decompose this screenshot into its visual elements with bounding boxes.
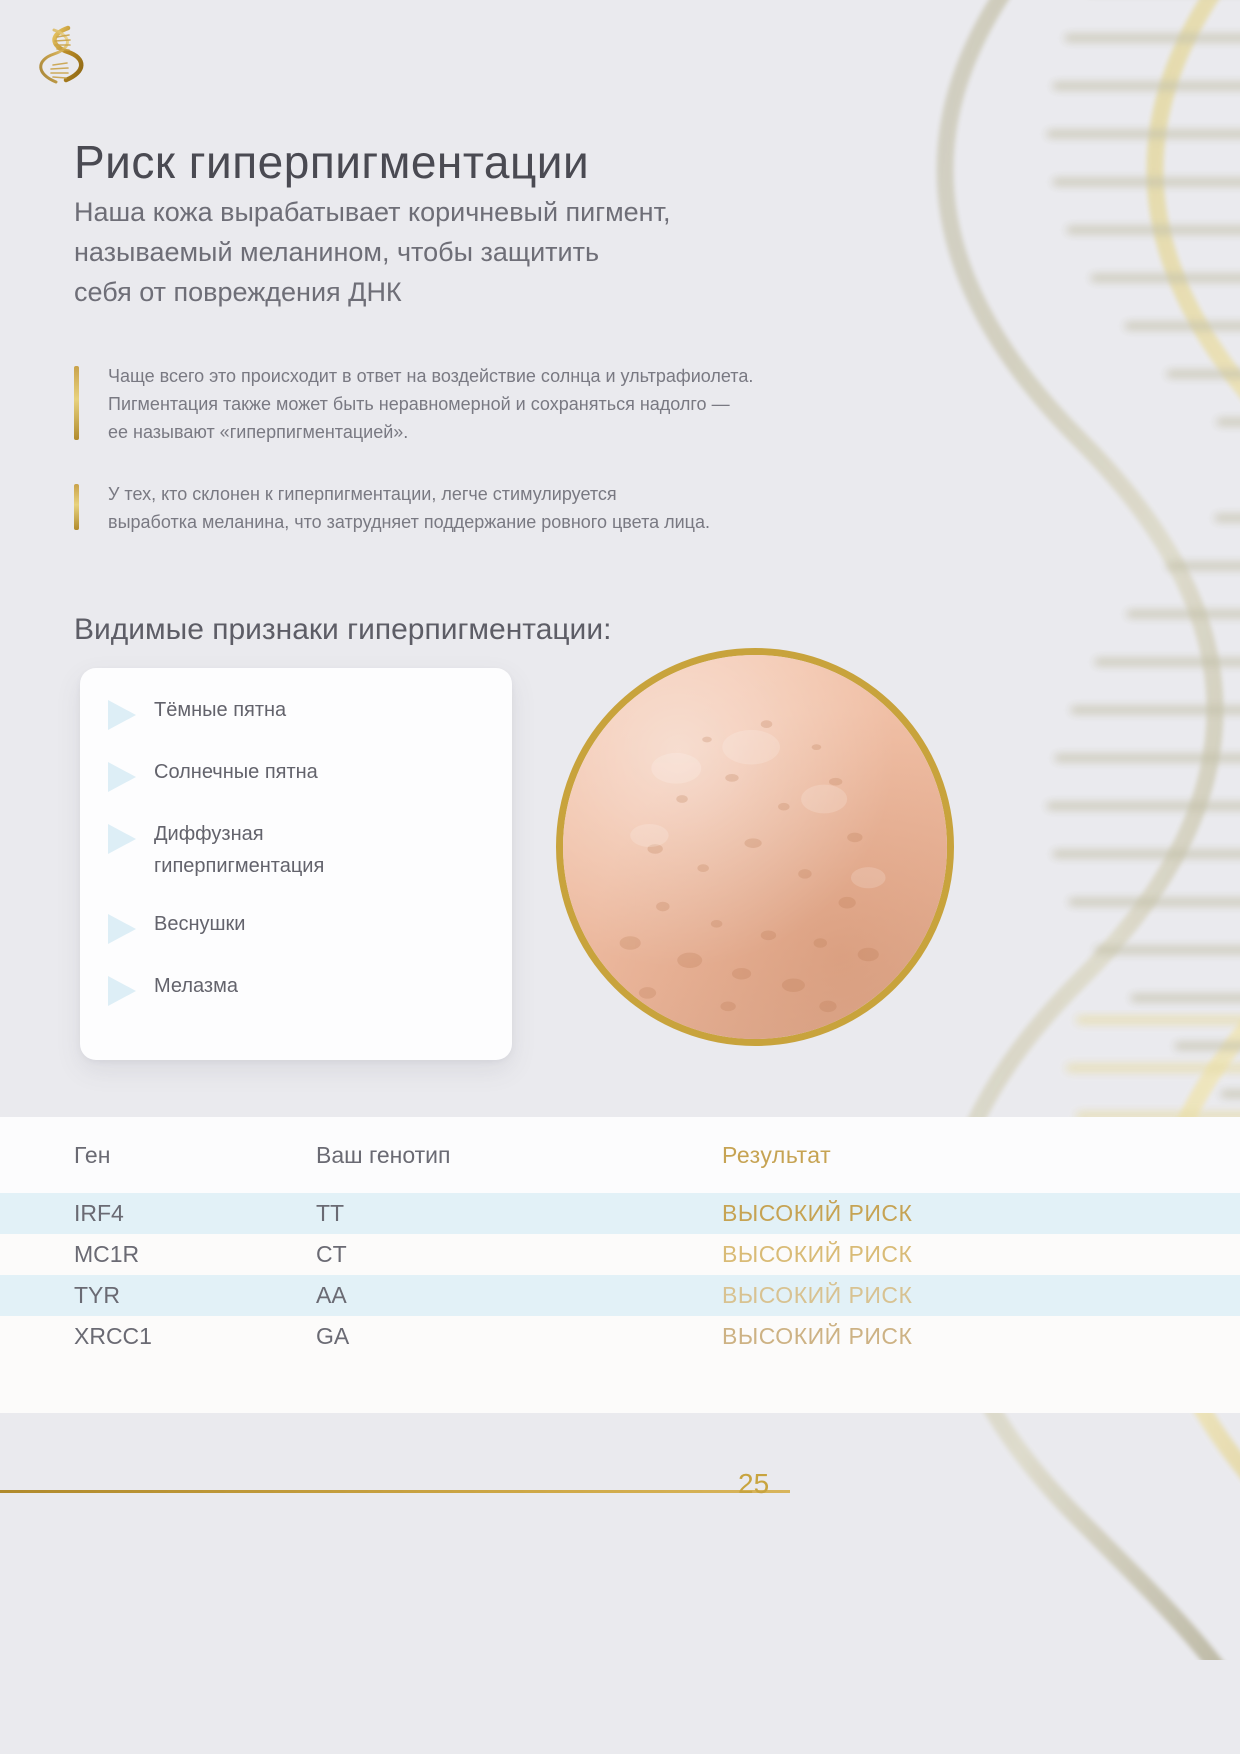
footer-divider [0,1490,790,1493]
callout-2-line-2: выработка меланина, что затрудняет подде… [108,508,1038,536]
skin-photo [556,648,954,1046]
list-item: Солнечные пятна [80,756,512,792]
column-header-genotype: Ваш генотип [316,1142,722,1169]
cell-gene: MC1R [0,1241,316,1268]
table-row: TYR AA ВЫСОКИЙ РИСК [0,1275,1240,1316]
dna-helix-icon [38,22,84,92]
callout-paragraph-1: Чаще всего это происходит в ответ на воз… [74,362,1038,446]
triangle-bullet-icon [108,914,136,944]
intro-line-3: себя от повреждения ДНК [74,272,954,312]
status-badge: ВЫСОКИЙ РИСК [722,1323,1240,1350]
cell-genotype: CT [316,1241,722,1268]
table-row: XRCC1 GA ВЫСОКИЙ РИСК [0,1316,1240,1357]
cell-genotype: AA [316,1282,722,1309]
results-table: Ген Ваш генотип Результат IRF4 TT ВЫСОКИ… [0,1117,1240,1413]
cell-genotype: TT [316,1200,722,1227]
list-item: Тёмные пятна [80,694,512,730]
cell-gene: XRCC1 [0,1323,316,1350]
callout-paragraph-2: У тех, кто склонен к гиперпигментации, л… [74,480,1038,536]
report-page: Риск гиперпигментации Наша кожа вырабаты… [0,0,1240,1754]
skin-pigment-spots [563,655,947,1039]
cell-genotype: GA [316,1323,722,1350]
column-header-gene: Ген [0,1142,316,1169]
table-footer-spacer [0,1357,1240,1413]
callout-1-line-3: ее называют «гиперпигментацией». [108,418,1038,446]
cell-gene: TYR [0,1282,316,1309]
column-header-result: Результат [722,1142,1240,1169]
callout-2-line-1: У тех, кто склонен к гиперпигментации, л… [108,480,1038,508]
callout-1-line-2: Пигментация также может быть неравномерн… [108,390,1038,418]
page-title: Риск гиперпигментации [74,135,589,189]
intro-line-2: называемый меланином, чтобы защитить [74,232,954,272]
status-badge: ВЫСОКИЙ РИСК [722,1200,1240,1227]
sign-label: Тёмные пятна [154,694,286,726]
status-badge: ВЫСОКИЙ РИСК [722,1241,1240,1268]
table-header-row: Ген Ваш генотип Результат [0,1117,1240,1193]
page-number: 25 [738,1468,769,1500]
triangle-bullet-icon [108,824,136,854]
table-row: IRF4 TT ВЫСОКИЙ РИСК [0,1193,1240,1234]
sign-label: Солнечные пятна [154,756,318,788]
list-item: Диффузная гиперпигментация [80,818,512,882]
status-badge: ВЫСОКИЙ РИСК [722,1282,1240,1309]
sign-label: Мелазма [154,970,238,1002]
callout-1-line-1: Чаще всего это происходит в ответ на воз… [108,362,1038,390]
triangle-bullet-icon [108,762,136,792]
sign-label: Диффузная гиперпигментация [154,818,324,882]
cell-gene: IRF4 [0,1200,316,1227]
signs-heading: Видимые признаки гиперпигментации: [74,613,611,647]
table-row: MC1R CT ВЫСОКИЙ РИСК [0,1234,1240,1275]
list-item: Мелазма [80,970,512,1006]
triangle-bullet-icon [108,700,136,730]
triangle-bullet-icon [108,976,136,1006]
intro-paragraph: Наша кожа вырабатывает коричневый пигмен… [74,192,954,312]
visible-signs-card: Тёмные пятна Солнечные пятна Диффузная г… [80,668,512,1060]
intro-line-1: Наша кожа вырабатывает коричневый пигмен… [74,192,954,232]
sign-label: Веснушки [154,908,245,940]
list-item: Веснушки [80,908,512,944]
